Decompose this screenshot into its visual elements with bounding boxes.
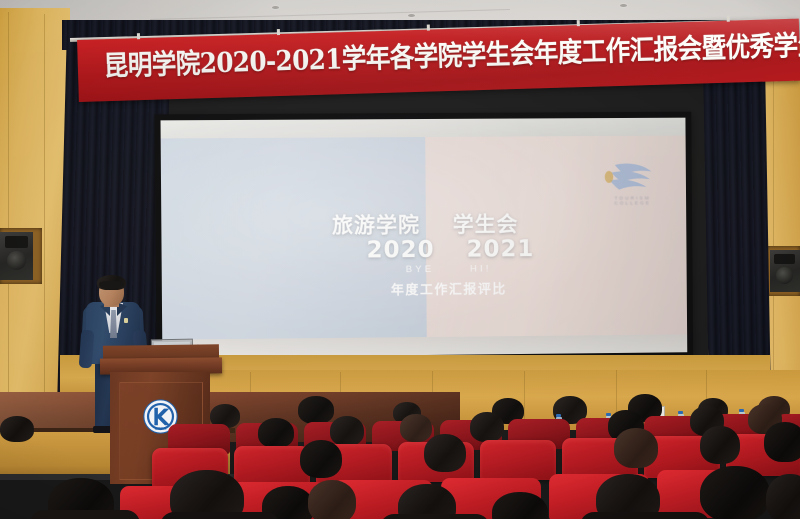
audience-head [470,412,504,442]
audience-head [298,396,334,424]
audience-head [300,440,342,478]
audience-head [308,480,356,519]
speaker-cone [7,251,26,270]
ceiling-spotlight [272,6,279,9]
presenter-arm-left [79,330,95,369]
audience-head [330,416,364,446]
audience-head [400,414,432,442]
audience-head [0,416,34,442]
wall-seam [773,44,774,412]
projection-surface: TOURISM COLLEGE 旅游学院 学生会 2020 2021 BYE H… [161,118,688,358]
audience-head [766,474,800,519]
audience-shoulders [380,514,490,519]
audience-shoulders [30,510,140,519]
audience-shoulders [580,512,710,519]
presenter-lapel-badge [124,318,128,323]
audience-shoulders [160,512,280,519]
wing-logo-icon [603,160,655,196]
wall-seam [44,14,45,408]
ceiling-spotlight [408,14,415,17]
wall-speaker-left [0,232,33,280]
audience-head [614,428,658,468]
ceiling-spotlight [620,4,627,7]
audience-head [700,426,740,464]
bottle-cap [739,409,744,412]
auditorium-photo: 昆明学院2020-2021学年各学院学生会年度工作汇报会暨优秀学生会考核 TOU… [0,0,800,519]
presenter-hair-fringe [99,281,124,289]
svg-text:昆明学院: 昆明学院 [155,426,167,431]
slide-logo-caption: TOURISM COLLEGE [597,195,668,205]
audience-head [258,418,294,448]
speaker-cone [776,267,793,284]
wall-seam [8,12,9,408]
bottle-cap [556,414,561,417]
projection-screen: TOURISM COLLEGE 旅游学院 学生会 2020 2021 BYE H… [154,112,693,364]
wall-speaker-right [770,250,800,292]
seat [480,440,556,480]
audience-head [700,466,770,519]
speaker-horn [774,254,795,264]
bottle-cap [678,411,683,414]
audience-head [424,434,466,472]
audience-head [764,422,800,462]
slide-panel-left [161,137,427,340]
seat [234,446,310,486]
speaker-horn [5,236,28,248]
